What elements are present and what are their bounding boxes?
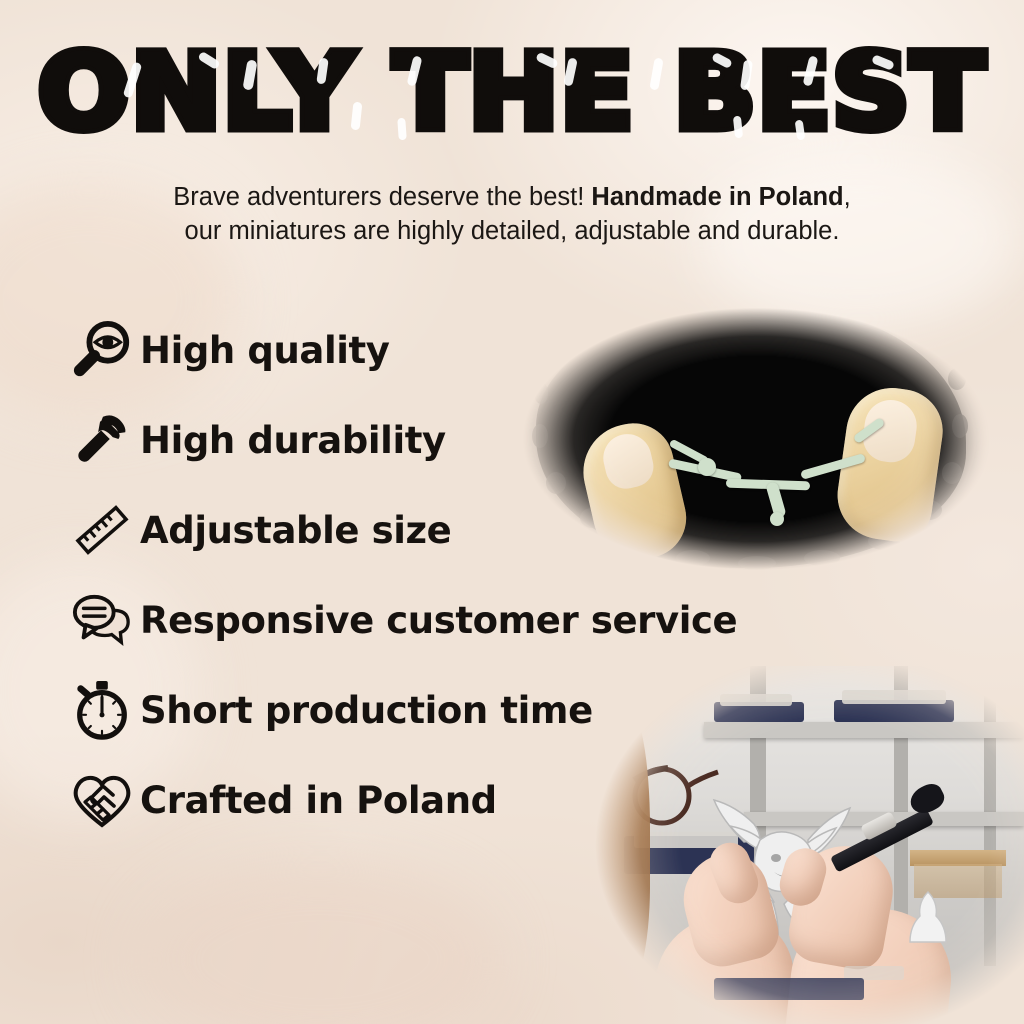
subtitle-line-2: our miniatures are highly detailed, adju… [0,214,1024,248]
magnifier-eye-icon [64,319,140,381]
workshop-painting-photo [594,666,1024,1024]
subtitle-plain: Brave adventurers deserve the best! [173,183,591,211]
page-title: ONLY THE BEST [0,42,1024,144]
feature-label: Crafted in Poland [140,779,497,822]
infographic-canvas: ONLY THE BEST Brave adventurers deserve … [0,0,1024,1024]
subtitle-highlight: Handmade in Poland [591,183,843,211]
flexible-miniature-photo [512,284,1002,594]
feature-label: High quality [140,329,390,372]
subtitle-line-1: Brave adventurers deserve the best! Hand… [0,180,1024,214]
subtitle-tail: , [844,183,851,211]
heart-handshake-icon [64,769,140,831]
feature-label: Responsive customer service [140,599,737,642]
feature-label: Short production time [140,689,593,732]
feature-label: Adjustable size [140,509,451,552]
stopwatch-icon [64,679,140,741]
ruler-icon [64,499,140,561]
hammer-icon [64,409,140,471]
speech-bubbles-icon [64,589,140,651]
page-title-text: ONLY THE BEST [38,42,986,144]
subtitle: Brave adventurers deserve the best! Hand… [0,180,1024,248]
feature-label: High durability [140,419,446,462]
